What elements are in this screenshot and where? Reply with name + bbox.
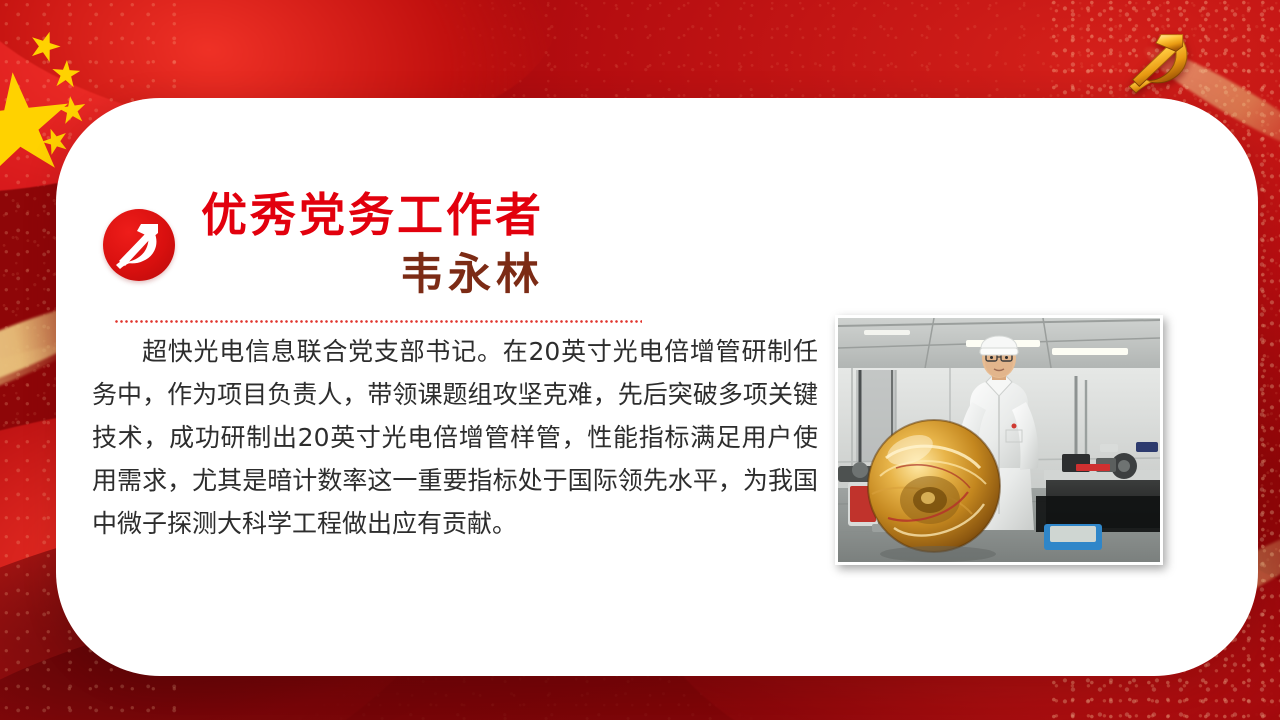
- party-emblem-badge-icon: [103, 209, 175, 281]
- content-card: 优秀党务工作者 韦永林 超快光电信息联合党支部书记。在20英寸光电倍增管研制任务…: [56, 98, 1258, 676]
- page-title: 优秀党务工作者: [201, 193, 544, 239]
- photo-scientist-with-photomultiplier-tube: [838, 318, 1160, 562]
- slide-root: 优秀党务工作者 韦永林 超快光电信息联合党支部书记。在20英寸光电倍增管研制任务…: [0, 0, 1280, 720]
- hammer-sickle-glyph-icon: [114, 220, 164, 270]
- dotted-divider: [114, 320, 642, 323]
- party-emblem-gold-icon: [1118, 28, 1204, 98]
- flag-star-small-2-icon: [51, 59, 81, 89]
- flag-star-small-3-icon: [56, 94, 88, 126]
- title-block: 优秀党务工作者 韦永林: [201, 193, 544, 297]
- person-name: 韦永林: [201, 254, 544, 297]
- portrait-photo: [835, 315, 1163, 565]
- body-paragraph: 超快光电信息联合党支部书记。在20英寸光电倍增管研制任务中，作为项目负责人，带领…: [92, 330, 818, 545]
- header-row: 优秀党务工作者 韦永林: [103, 193, 544, 297]
- flag-star-small-1-icon: [26, 27, 64, 65]
